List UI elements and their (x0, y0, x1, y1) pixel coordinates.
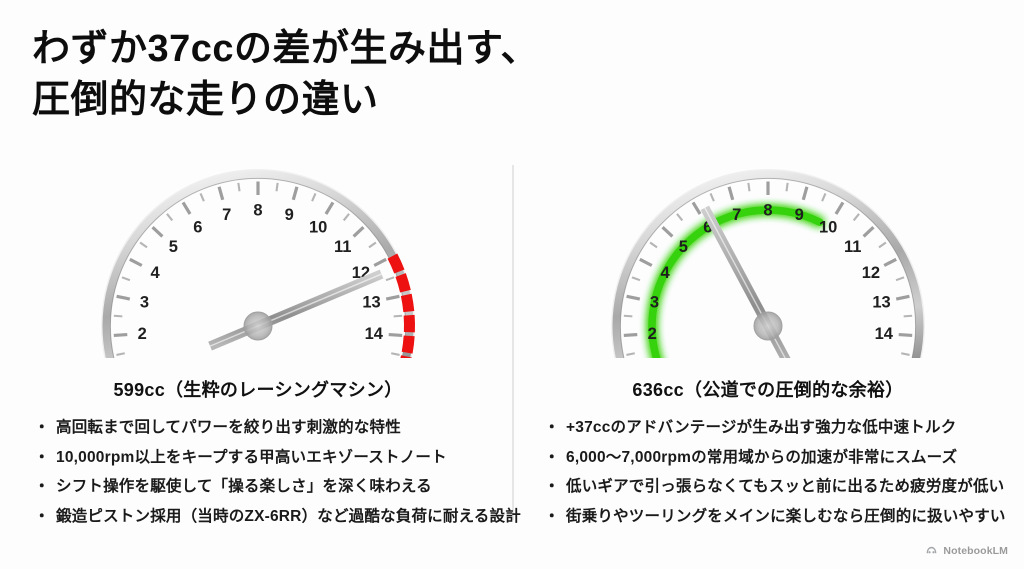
panel-636cc-heading: 636cc（公道での圧倒的な余裕） (518, 376, 1018, 402)
gauge-636cc-wrap: 012345678910111213141516 (518, 158, 1018, 358)
svg-text:13: 13 (872, 294, 890, 312)
title-line-2: 圧倒的な走りの違い (32, 75, 652, 126)
svg-text:8: 8 (253, 202, 262, 220)
svg-text:2: 2 (648, 325, 657, 343)
tachometer-599cc-gauge: 012345678910111213141516 (68, 158, 448, 358)
svg-text:11: 11 (844, 238, 861, 256)
svg-text:15: 15 (868, 356, 886, 358)
svg-text:8: 8 (763, 202, 772, 220)
svg-text:13: 13 (362, 294, 380, 312)
notebooklm-watermark-label: NotebookLM (943, 545, 1008, 557)
panel-599cc: 012345678910111213141516 599cc（生粋のレーシングマ… (8, 158, 508, 538)
list-item: 低いギアで引っ張らなくてもスッと前に出るため疲労度が低い (540, 479, 1018, 495)
svg-text:5: 5 (679, 238, 688, 256)
list-item: 高回転まで回してパワーを絞り出す刺激的な特性 (30, 420, 508, 436)
list-item: 鍛造ピストン採用（当時のZX-6RR）など過酷な負荷に耐える設計 (30, 509, 508, 525)
title-line-1: わずか37ccの差が生み出す、 (32, 24, 652, 75)
svg-text:14: 14 (875, 325, 894, 343)
notebooklm-watermark: NotebookLM (925, 544, 1008, 557)
svg-text:4: 4 (151, 264, 161, 282)
svg-text:2: 2 (138, 325, 147, 343)
page-title: わずか37ccの差が生み出す、 圧倒的な走りの違い (32, 24, 652, 127)
panel-599cc-heading: 599cc（生粋のレーシングマシン） (8, 376, 508, 402)
svg-text:7: 7 (732, 206, 741, 224)
svg-text:15: 15 (358, 356, 376, 358)
svg-text:9: 9 (795, 206, 804, 224)
svg-text:4: 4 (661, 264, 671, 282)
slide-canvas: わずか37ccの差が生み出す、 圧倒的な走りの違い 01234567891011… (0, 0, 1024, 569)
svg-text:7: 7 (222, 206, 231, 224)
svg-text:5: 5 (169, 238, 178, 256)
svg-text:11: 11 (334, 238, 351, 256)
svg-text:1: 1 (654, 356, 663, 358)
list-item: シフト操作を駆使して「操る楽しさ」を深く味わえる (30, 479, 508, 495)
list-item: 6,000〜7,000rpmの常用域からの加速が非常にスムーズ (540, 450, 1018, 466)
tachometer-636cc-gauge: 012345678910111213141516 (578, 158, 958, 358)
list-item: +37ccのアドバンテージが生み出す強力な低中速トルク (540, 420, 1018, 436)
panel-636cc-bullet-list: +37ccのアドバンテージが生み出す強力な低中速トルク6,000〜7,000rp… (540, 420, 1018, 524)
svg-text:14: 14 (365, 325, 384, 343)
svg-text:3: 3 (650, 294, 659, 312)
panel-599cc-bullet-list: 高回転まで回してパワーを絞り出す刺激的な特性10,000rpm以上をキープする甲… (30, 420, 508, 524)
svg-text:1: 1 (144, 356, 153, 358)
panel-636cc: 012345678910111213141516 636cc（公道での圧倒的な余… (518, 158, 1018, 538)
svg-text:9: 9 (285, 206, 294, 224)
svg-text:12: 12 (862, 264, 880, 282)
svg-text:3: 3 (140, 294, 149, 312)
svg-text:10: 10 (309, 218, 327, 236)
list-item: 街乗りやツーリングをメインに楽しむなら圧倒的に扱いやすい (540, 509, 1018, 525)
svg-text:6: 6 (193, 218, 202, 236)
notebooklm-logo-icon (925, 544, 938, 557)
svg-text:10: 10 (819, 218, 837, 236)
list-item: 10,000rpm以上をキープする甲高いエキゾーストノート (30, 450, 508, 466)
center-divider (512, 165, 514, 520)
gauge-599cc-wrap: 012345678910111213141516 (8, 158, 508, 358)
